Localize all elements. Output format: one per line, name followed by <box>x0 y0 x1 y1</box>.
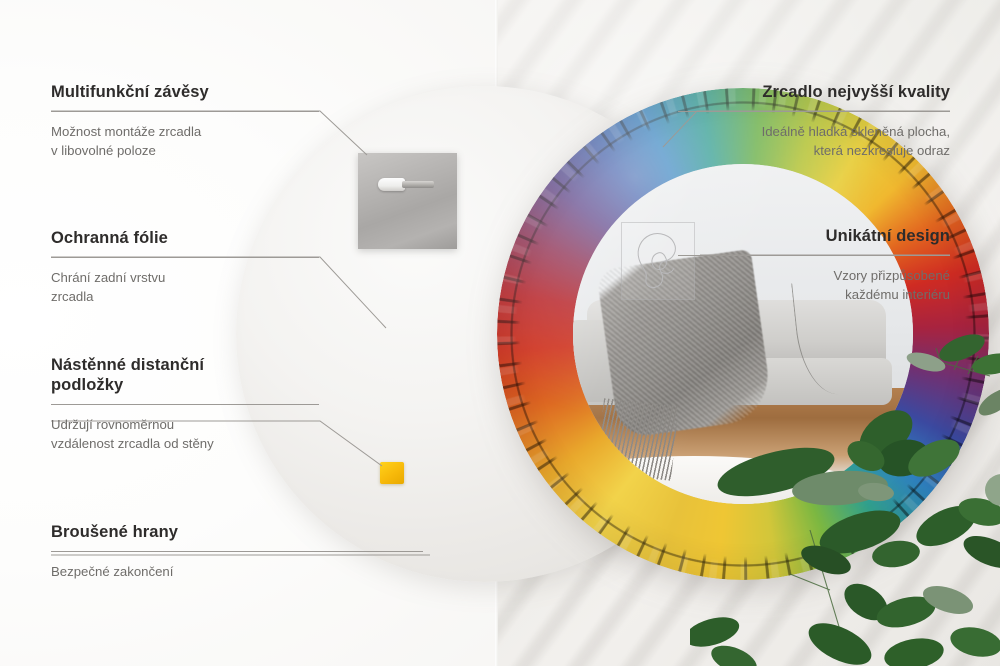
callout-multifunkcni-zavesy: Multifunkční závěsy Možnost montáže zrca… <box>51 82 319 161</box>
callout-rule <box>51 257 319 258</box>
keyhole-slit <box>402 181 434 188</box>
callout-rule <box>51 111 319 112</box>
callout-zrcadlo-nejvyssi-kvality: Zrcadlo nejvyšší kvality Ideálně hladká … <box>678 82 950 161</box>
callout-nastenne-distancni-podlozky: Nástěnné distanční podložky Udržují rovn… <box>51 355 319 454</box>
callout-brousene-hrany: Broušené hrany Bezpečné zakončení <box>51 522 423 582</box>
throw-fringe <box>597 398 679 480</box>
callout-unikatni-design: Unikátní design Vzory přizpůsobené každé… <box>678 226 950 305</box>
callout-description: Udržují rovnoměrnou vzdálenost zrcadla o… <box>51 416 319 453</box>
callout-rule <box>678 111 950 112</box>
spacer-pad-icon <box>380 462 404 484</box>
callout-title: Unikátní design <box>678 226 950 246</box>
callout-description: Bezpečné zakončení <box>51 563 423 582</box>
callout-rule <box>51 404 319 405</box>
callout-description: Ideálně hladká skleněná plocha, která ne… <box>678 123 950 160</box>
product-feature-infographic: Multifunkční závěsy Možnost montáže zrca… <box>0 0 1000 666</box>
callout-description: Možnost montáže zrcadla v libovolné polo… <box>51 123 319 160</box>
callout-ochranna-folie: Ochranná fólie Chrání zadní vrstvu zrcad… <box>51 228 319 307</box>
keyhole-slot <box>378 178 433 191</box>
hanger-bracket-icon <box>358 153 457 249</box>
callout-title: Ochranná fólie <box>51 228 319 248</box>
callout-rule <box>678 255 950 256</box>
callout-title: Broušené hrany <box>51 522 423 542</box>
callout-title: Nástěnné distanční podložky <box>51 355 319 395</box>
callout-title: Multifunkční závěsy <box>51 82 319 102</box>
callout-description: Vzory přizpůsobené každému interiéru <box>678 267 950 304</box>
callout-title: Zrcadlo nejvyšší kvality <box>678 82 950 102</box>
callout-description: Chrání zadní vrstvu zrcadla <box>51 269 319 306</box>
callout-rule <box>51 551 423 552</box>
plant-leaves-decoration <box>690 330 1000 666</box>
keyhole-opening <box>378 178 405 191</box>
